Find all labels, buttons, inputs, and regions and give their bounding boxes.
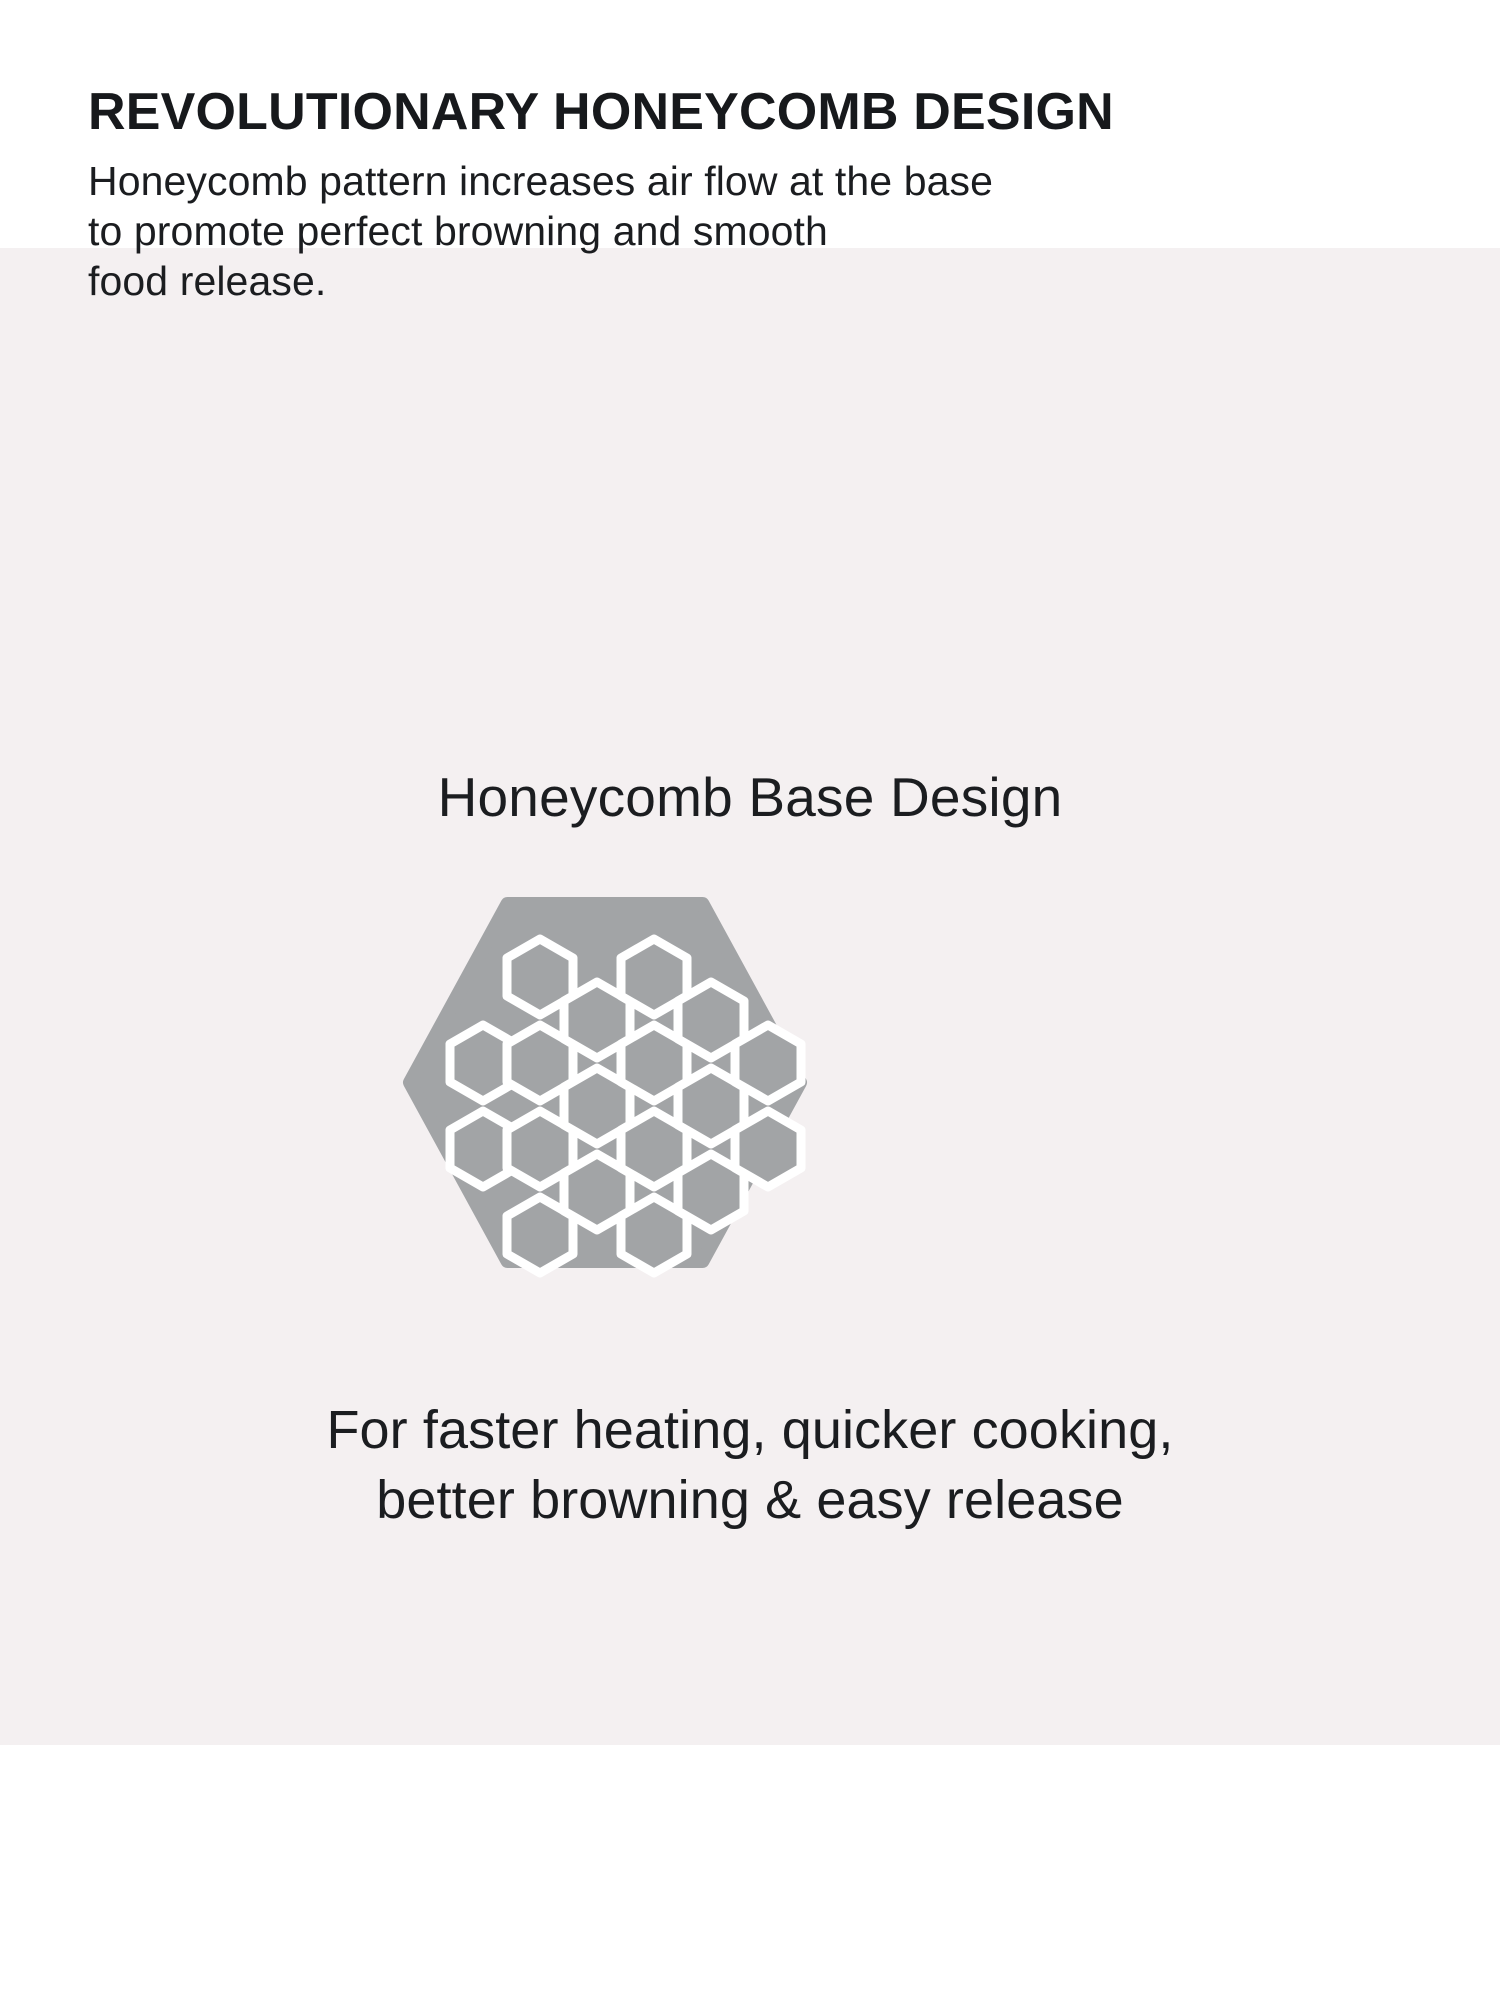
- section-heading: Honeycomb Base Design: [0, 770, 1500, 825]
- benefit-line-1: For faster heating, quicker cooking,: [0, 1395, 1500, 1465]
- benefit-statement: For faster heating, quicker cooking, bet…: [0, 1395, 1500, 1535]
- honeycomb-base-icon: [390, 895, 820, 1280]
- page-title: REVOLUTIONARY HONEYCOMB DESIGN: [88, 86, 1408, 138]
- header-description-line-2: to promote perfect browning and smooth: [88, 206, 1408, 256]
- header-description-line-3: food release.: [88, 256, 1408, 306]
- header-block: REVOLUTIONARY HONEYCOMB DESIGN Honeycomb…: [88, 86, 1408, 306]
- header-description-line-1: Honeycomb pattern increases air flow at …: [88, 156, 1408, 206]
- header-description: Honeycomb pattern increases air flow at …: [88, 138, 1408, 306]
- infographic-page: REVOLUTIONARY HONEYCOMB DESIGN Honeycomb…: [0, 0, 1500, 2000]
- benefit-line-2: better browning & easy release: [0, 1465, 1500, 1535]
- honeycomb-graphic: [390, 895, 820, 1280]
